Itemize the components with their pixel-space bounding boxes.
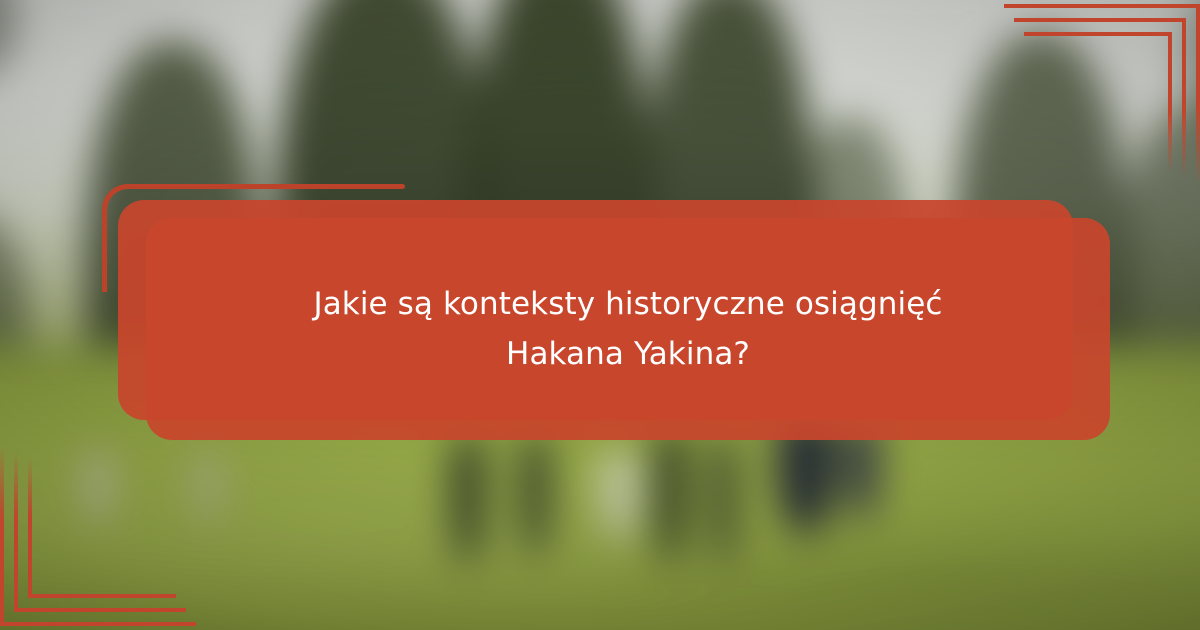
- question-card: Jakie są konteksty historyczne osiągnięć…: [146, 218, 1110, 440]
- question-card-group: Jakie są konteksty historyczne osiągnięć…: [100, 178, 1110, 468]
- background-blob: [0, 0, 17, 79]
- poster-stage: Jakie są konteksty historyczne osiągnięć…: [0, 0, 1200, 630]
- question-text: Jakie są konteksty historyczne osiągnięć…: [146, 279, 1110, 379]
